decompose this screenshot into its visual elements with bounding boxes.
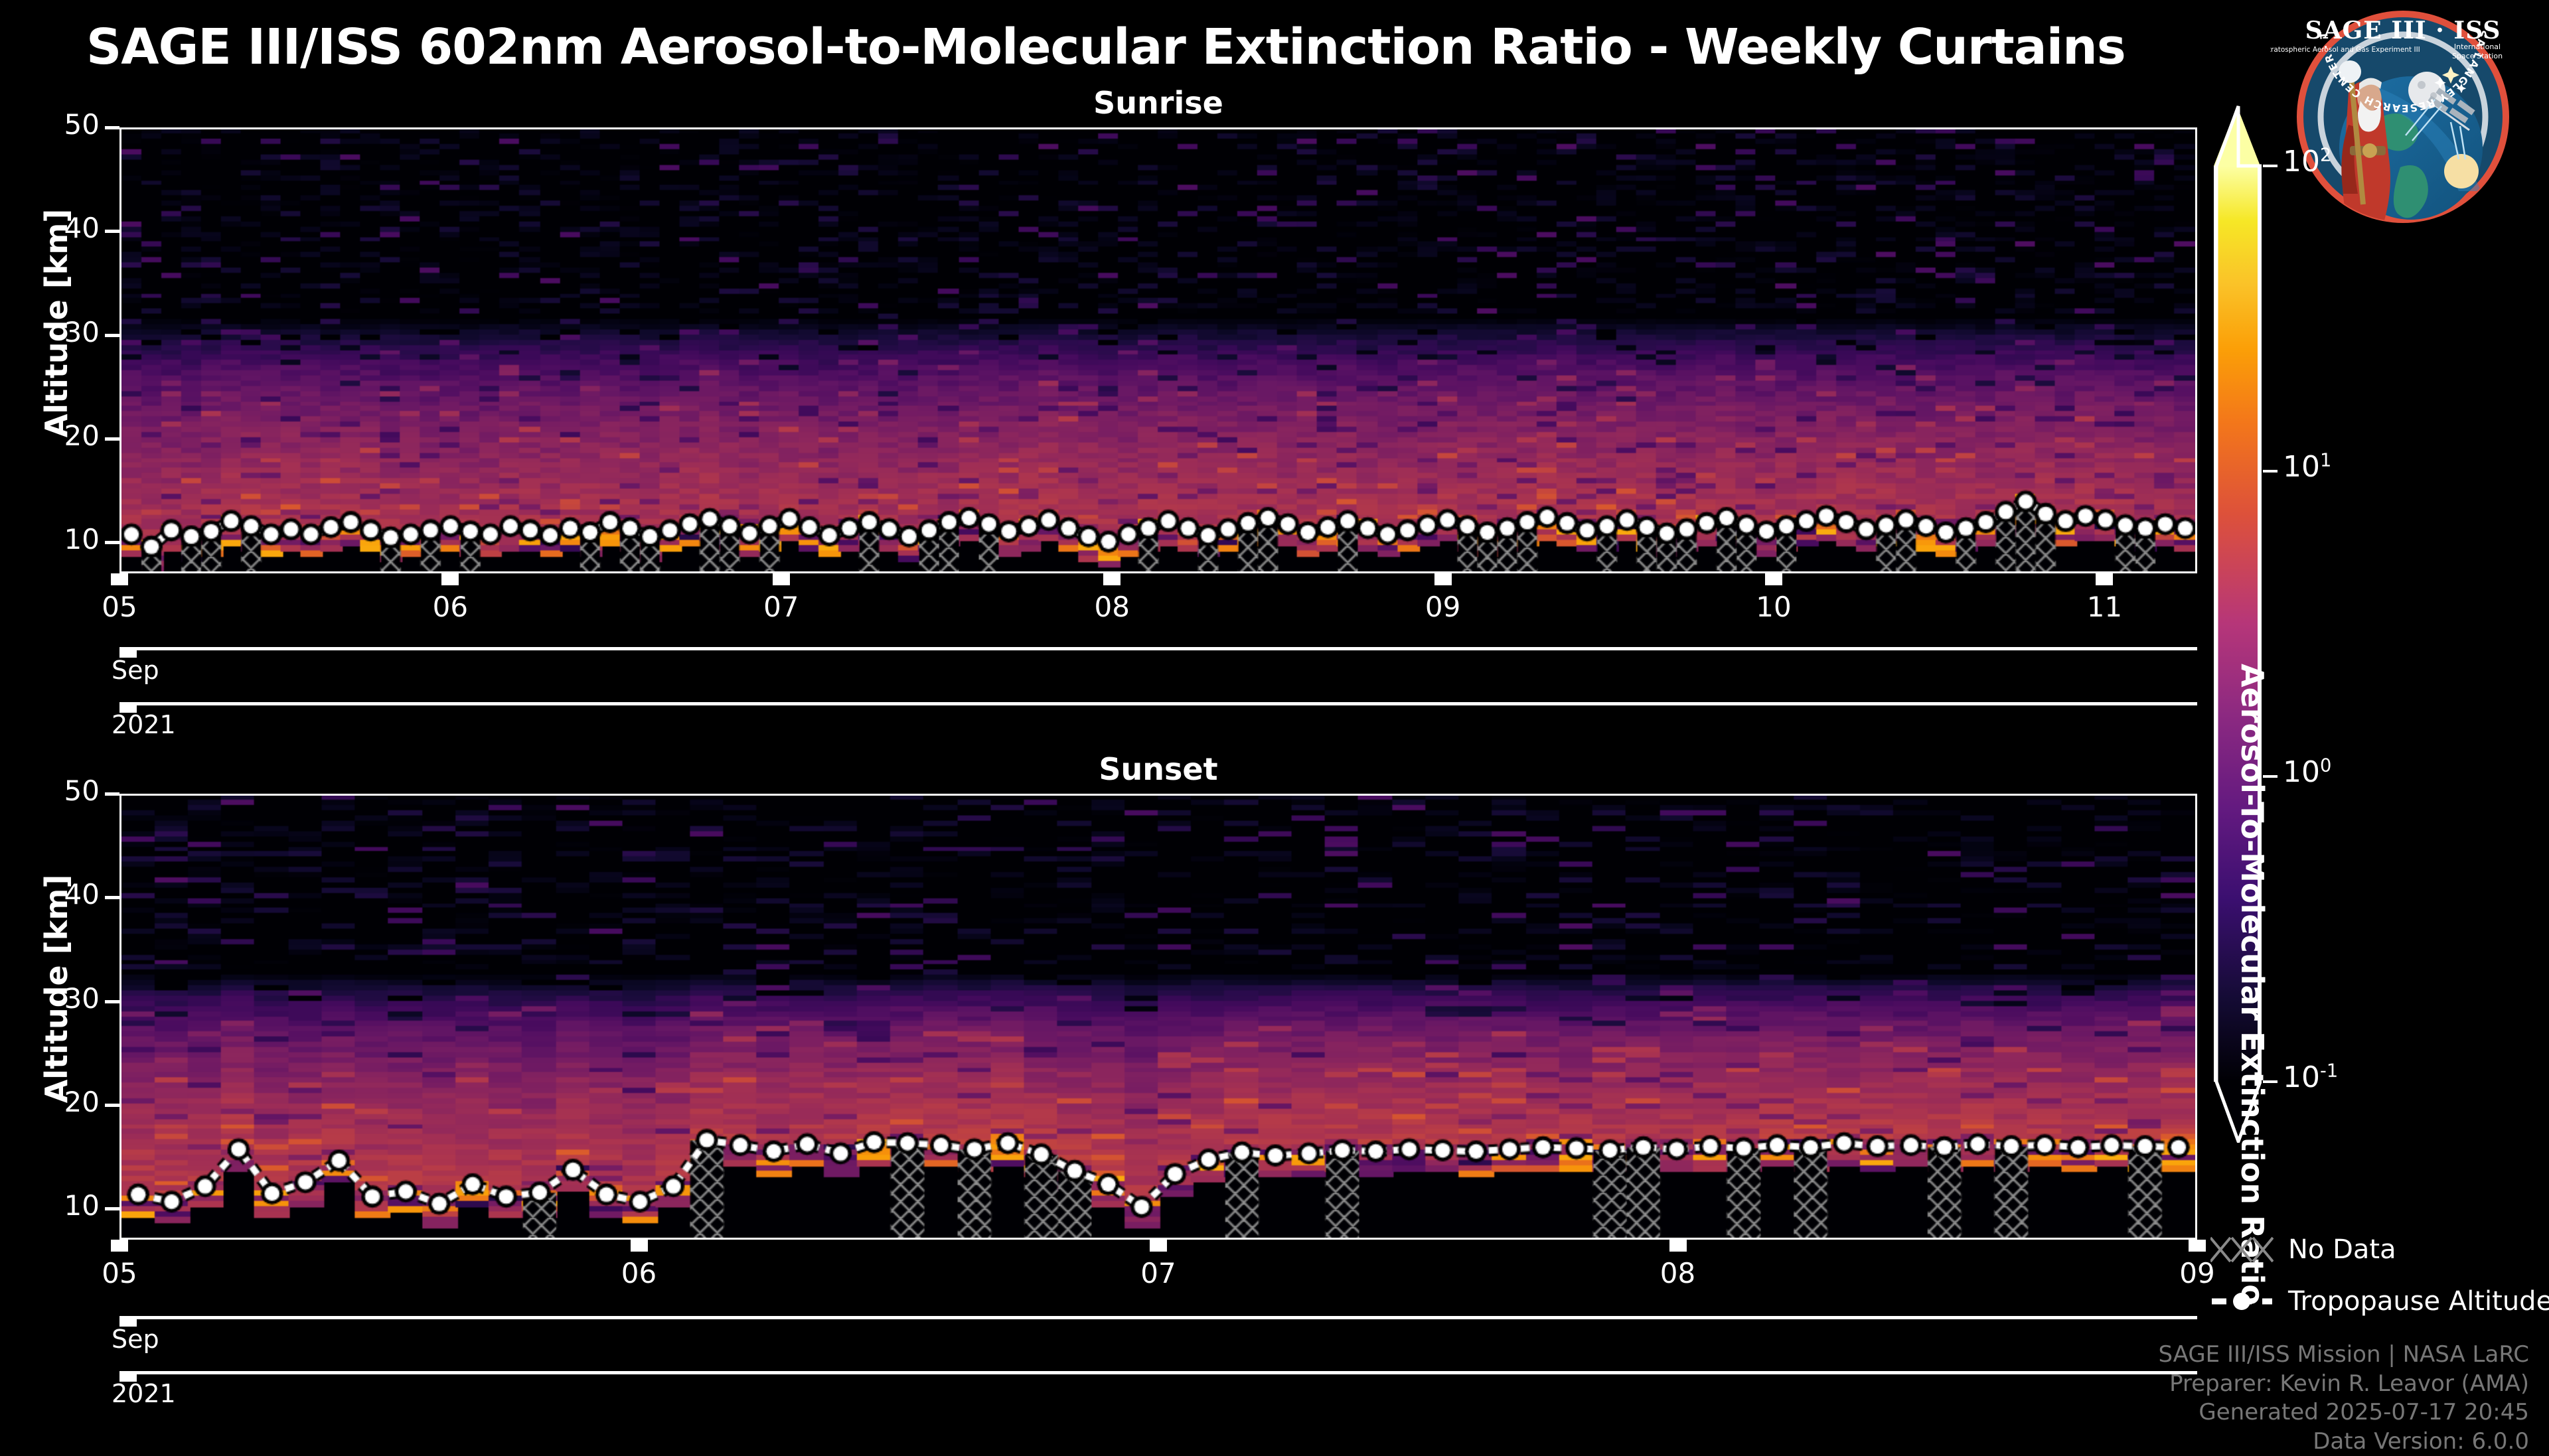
footer-line-4: Data Version: 6.0.0 <box>1726 1427 2529 1456</box>
sunrise-year-label: 2021 <box>112 710 176 739</box>
sunset-y-tickmark-40 <box>105 896 119 899</box>
sunrise-x-tick-10: 10 <box>1707 591 1840 623</box>
legend-label-no-data: No Data <box>2288 1234 2396 1265</box>
sunset-panel-title: Sunset <box>119 751 2197 787</box>
colorbar-tickmark-10 <box>2263 470 2278 473</box>
sunrise-y-tickmark-40 <box>105 230 119 233</box>
footer-credits: SAGE III/ISS Mission | NASA LaRC Prepare… <box>1726 1341 2529 1456</box>
page-title: SAGE III/ISS 602nm Aerosol-to-Molecular … <box>86 19 2210 76</box>
colorbar-tick-label-0.1: 10-1 <box>2283 1060 2338 1094</box>
sunrise-y-tickmark-50 <box>105 126 119 129</box>
sunset-x-tick-05: 05 <box>53 1257 186 1289</box>
sunrise-x-tick-06: 06 <box>384 591 516 623</box>
sunrise-year-rule <box>119 702 2197 705</box>
sunset-y-tick-10: 10 <box>0 1189 100 1222</box>
sunrise-x-tickmark-11 <box>2096 573 2113 585</box>
sunset-y-tick-50: 50 <box>0 774 100 807</box>
sunset-y-tick-30: 30 <box>0 982 100 1015</box>
sunset-x-tickmark-07 <box>1150 1240 1167 1252</box>
sunrise-x-tick-09: 09 <box>1377 591 1509 623</box>
sunrise-y-tick-10: 10 <box>0 523 100 555</box>
sunrise-x-tick-08: 08 <box>1045 591 1178 623</box>
sunrise-y-tickmark-30 <box>105 334 119 337</box>
sunset-x-tick-07: 07 <box>1092 1257 1225 1289</box>
sunset-x-tickmark-05 <box>111 1240 128 1252</box>
sunrise-y-tickmark-10 <box>105 541 119 544</box>
sunrise-panel-title: Sunrise <box>119 85 2197 121</box>
sunset-year-label: 2021 <box>112 1379 176 1408</box>
sunrise-month-rule <box>119 647 2197 650</box>
sunrise-x-tick-05: 05 <box>53 591 186 623</box>
logo-subtitle-left: Stratospheric Aerosol and Gas Experiment… <box>2270 46 2420 54</box>
tropopause-line-icon <box>2210 1285 2274 1317</box>
sunset-heatmap-canvas <box>121 796 2195 1238</box>
footer-line-2: Preparer: Kevin R. Leavor (AMA) <box>1726 1370 2529 1399</box>
sunset-x-tick-06: 06 <box>573 1257 706 1289</box>
sunrise-x-tick-11: 11 <box>2038 591 2171 623</box>
sunrise-x-tickmark-06 <box>441 573 459 585</box>
sunrise-y-tick-40: 40 <box>0 212 100 244</box>
sunset-y-tickmark-30 <box>105 1000 119 1003</box>
sunset-y-tickmark-20 <box>105 1104 119 1107</box>
sunrise-y-tickmark-20 <box>105 437 119 441</box>
sunset-month-label: Sep <box>112 1325 159 1354</box>
colorbar-tick-label-10: 101 <box>2283 450 2331 484</box>
legend: No Data Tropopause Altitude <box>2210 1231 2542 1335</box>
sunset-heatmap-plot[interactable] <box>119 794 2197 1240</box>
sunset-y-tick-20: 20 <box>0 1086 100 1118</box>
sunrise-x-tick-07: 07 <box>715 591 848 623</box>
colorbar-tick-label-100: 102 <box>2283 145 2331 179</box>
sunset-x-tickmark-09 <box>2189 1240 2206 1252</box>
sunrise-x-tickmark-09 <box>1434 573 1452 585</box>
sunset-x-tick-08: 08 <box>1612 1257 1744 1289</box>
sunrise-y-tick-50: 50 <box>0 108 100 141</box>
sunset-y-tickmark-10 <box>105 1207 119 1210</box>
legend-item-tropopause[interactable]: Tropopause Altitude <box>2210 1283 2542 1320</box>
colorbar-tickmark-100 <box>2263 165 2278 167</box>
sunrise-x-tickmark-10 <box>1765 573 1782 585</box>
colorbar-tick-label-1: 100 <box>2283 755 2331 789</box>
sunset-y-tick-40: 40 <box>0 878 100 910</box>
no-data-hatch-icon <box>2210 1234 2274 1266</box>
sunset-x-tickmark-06 <box>631 1240 648 1252</box>
sage3-iss-mission-patch-logo: SAGE III · ISS Stratospheric Aerosol and… <box>2270 5 2536 224</box>
legend-item-no-data[interactable]: No Data <box>2210 1231 2542 1268</box>
sunrise-y-tick-20: 20 <box>0 419 100 452</box>
sunrise-x-tickmark-08 <box>1103 573 1120 585</box>
sunrise-heatmap-plot[interactable] <box>119 127 2197 573</box>
sunset-y-tickmark-50 <box>105 792 119 796</box>
sunset-month-rule <box>119 1316 2197 1319</box>
sunrise-x-tickmark-07 <box>773 573 790 585</box>
footer-line-1: SAGE III/ISS Mission | NASA LaRC <box>1726 1341 2529 1370</box>
sunrise-heatmap-canvas <box>121 129 2195 571</box>
footer-line-3: Generated 2025-07-17 20:45 <box>1726 1398 2529 1427</box>
sunset-x-tickmark-08 <box>1669 1240 1687 1252</box>
sunrise-y-tick-30: 30 <box>0 316 100 348</box>
legend-label-tropopause: Tropopause Altitude <box>2288 1286 2549 1317</box>
sunrise-x-tickmark-05 <box>111 573 128 585</box>
colorbar-axis-label: Aerosol-To-Molecular Extinction Ratio <box>2234 664 2270 1305</box>
sunrise-month-label: Sep <box>112 656 159 685</box>
logo-title: SAGE III · ISS <box>2305 17 2501 44</box>
